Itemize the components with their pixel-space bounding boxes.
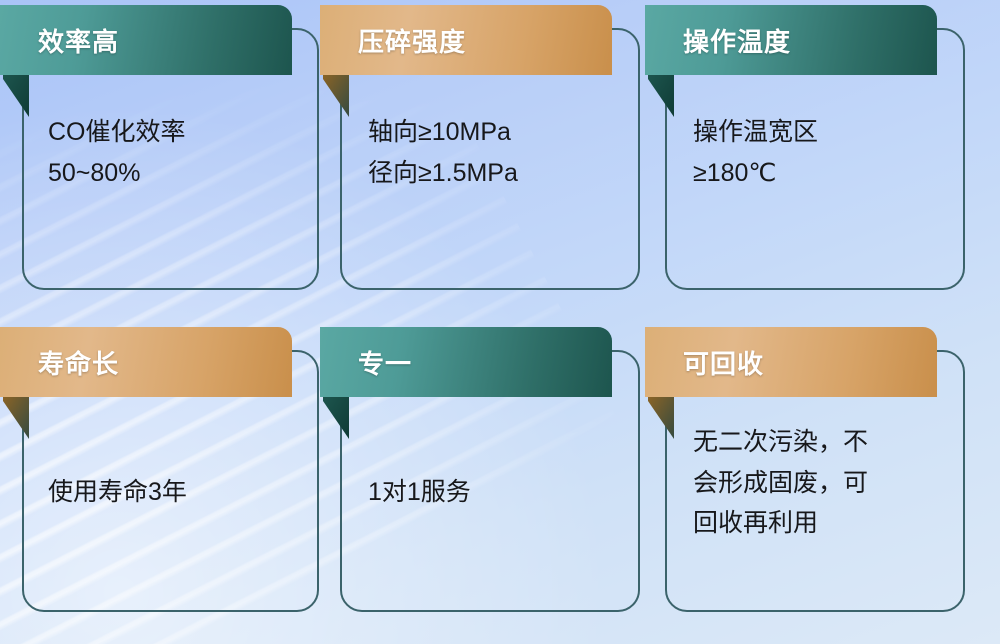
card-title: 效率高 [38, 22, 119, 59]
ribbon-fold-icon [648, 75, 674, 117]
card-body-text: 使用寿命3年 [48, 472, 293, 513]
card-text-line: 操作温宽区 [693, 112, 938, 153]
card-header-banner: 寿命长 [0, 327, 292, 397]
card-title: 压碎强度 [358, 22, 466, 59]
feature-card-grid: 效率高 CO催化效率 50~80% 压碎强度 轴向≥10MPa 径向≥1.5MP… [0, 0, 1000, 644]
card-text-line: 50~80% [48, 153, 293, 194]
card-header-banner: 压碎强度 [320, 5, 612, 75]
card-body-text: 轴向≥10MPa 径向≥1.5MPa [368, 112, 613, 193]
card-body-text: 1对1服务 [368, 472, 613, 513]
ribbon-fold-icon [3, 397, 29, 439]
card-text-line: 回收再利用 [693, 503, 938, 544]
card-title: 专一 [358, 344, 412, 381]
ribbon-fold-icon [323, 75, 349, 117]
card-text-line: ≥180℃ [693, 153, 938, 194]
card-title: 可回收 [683, 344, 764, 381]
card-text-line: 使用寿命3年 [48, 472, 293, 513]
ribbon-fold-icon [3, 75, 29, 117]
feature-card-efficiency[interactable]: 效率高 CO催化效率 50~80% [0, 0, 320, 322]
ribbon-fold-icon [648, 397, 674, 439]
card-text-line: CO催化效率 [48, 112, 293, 153]
feature-card-recyclable[interactable]: 可回收 无二次污染，不 会形成固废，可 回收再利用 [645, 322, 970, 644]
card-body-text: 操作温宽区 ≥180℃ [693, 112, 938, 193]
card-body-text: CO催化效率 50~80% [48, 112, 293, 193]
card-header-banner: 可回收 [645, 327, 937, 397]
card-text-line: 会形成固废，可 [693, 463, 938, 504]
card-text-line: 径向≥1.5MPa [368, 153, 613, 194]
ribbon-fold-icon [323, 397, 349, 439]
card-text-line: 无二次污染，不 [693, 422, 938, 463]
feature-card-operating-temperature[interactable]: 操作温度 操作温宽区 ≥180℃ [645, 0, 970, 322]
card-text-line: 1对1服务 [368, 472, 613, 513]
card-body-text: 无二次污染，不 会形成固废，可 回收再利用 [693, 422, 938, 544]
feature-card-long-life[interactable]: 寿命长 使用寿命3年 [0, 322, 320, 644]
feature-card-crush-strength[interactable]: 压碎强度 轴向≥10MPa 径向≥1.5MPa [320, 0, 645, 322]
card-header-banner: 操作温度 [645, 5, 937, 75]
card-header-banner: 效率高 [0, 5, 292, 75]
card-text-line: 轴向≥10MPa [368, 112, 613, 153]
card-title: 寿命长 [38, 344, 119, 381]
feature-card-dedicated-service[interactable]: 专一 1对1服务 [320, 322, 645, 644]
card-title: 操作温度 [683, 22, 791, 59]
card-header-banner: 专一 [320, 327, 612, 397]
